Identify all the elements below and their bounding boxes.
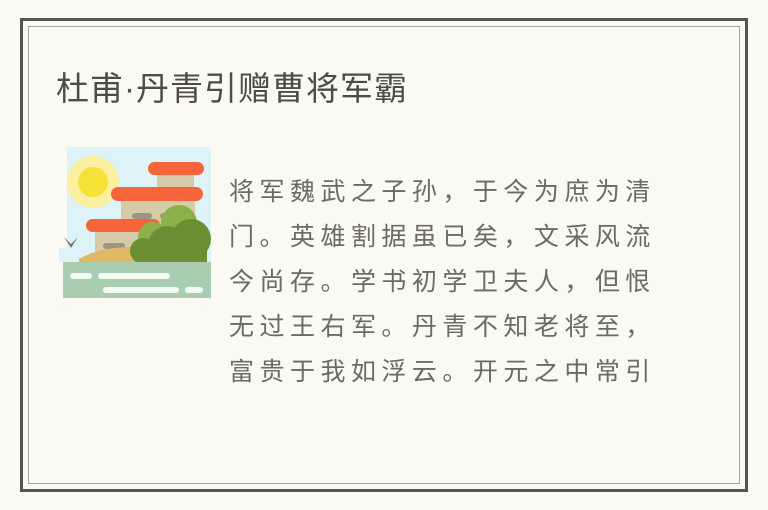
- poem-line: 无过王右军。丹青不知老将至，: [229, 304, 651, 349]
- poem-line: 门。英雄割据虽已矣，文采风流: [229, 214, 651, 259]
- poem-line: 将军魏武之子孙，于今为庶为清: [229, 169, 651, 214]
- poem-card: 杜甫·丹青引赠曹将军霸: [20, 18, 748, 492]
- page-title: 杜甫·丹青引赠曹将军霸: [56, 68, 408, 109]
- poem-line: 今尚存。学书初学卫夫人，但恨: [229, 259, 651, 304]
- landscape-illustration-icon: [59, 143, 211, 306]
- poem-text-body: 将军魏武之子孙，于今为庶为清 门。英雄割据虽已矣，文采风流 今尚存。学书初学卫夫…: [229, 169, 651, 394]
- poem-line: 富贵于我如浮云。开元之中常引: [229, 349, 651, 394]
